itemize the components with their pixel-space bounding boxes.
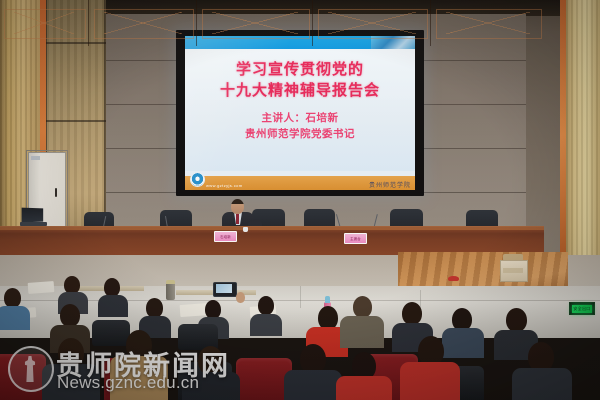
audience-torso: [182, 372, 240, 400]
slide-subtitle-line1: 主讲人：石培新: [185, 111, 415, 125]
door-sign: [31, 156, 40, 160]
audience-torso: [284, 370, 342, 400]
audience-torso: [336, 376, 392, 400]
table-panel-seam: [430, 0, 431, 46]
speaker-head: [231, 199, 244, 214]
table-panel-seam: [88, 0, 89, 46]
audience-seat: [92, 320, 130, 346]
tea-cup: [243, 227, 248, 232]
audience-torso: [400, 362, 460, 400]
thermos-cap: [166, 280, 175, 284]
audience-head: [258, 296, 274, 315]
audience-head: [4, 288, 21, 308]
table-diamond-motif: [212, 12, 298, 34]
raised-hand: [236, 292, 245, 303]
table-panel-seam: [196, 0, 197, 46]
audience-head: [198, 346, 223, 375]
smartphone-screen: [216, 284, 232, 293]
slide-body: 学习宣传贯彻党的 十九大精神辅导报告会 主讲人：石培新 贵州师范学院党委书记: [185, 49, 415, 171]
table-diamond-motif: [328, 12, 416, 34]
audience-head: [146, 298, 163, 318]
audience-torso: [98, 295, 128, 317]
audience-torso: [340, 316, 384, 348]
table-panel-seam: [312, 0, 313, 46]
speaker-nameplate: 石培新: [214, 231, 237, 242]
audience-torso: [0, 306, 30, 330]
slide-footer-calligraphy: 贵州师范学院: [369, 180, 411, 189]
audience-torso: [110, 356, 168, 400]
water-bottle-cap: [325, 296, 330, 303]
audience-torso: [250, 314, 282, 336]
audience-seat: [0, 354, 46, 400]
audience-head: [353, 296, 372, 318]
slide-footer-url: www.gztzyjs.com: [206, 183, 242, 188]
audience-torso: [512, 368, 572, 400]
door-handle-icon[interactable]: [55, 188, 57, 197]
university-logo-icon: [190, 172, 205, 187]
thermos-flask: [166, 282, 175, 300]
projection-screen: 学习宣传贯彻党的 十九大精神辅导报告会 主讲人：石培新 贵州师范学院党委书记 w…: [185, 36, 415, 190]
audience-head: [402, 302, 422, 325]
audience-head: [60, 304, 80, 327]
speaker-tie: [236, 214, 239, 224]
slide-title-line2: 十九大精神辅导报告会: [185, 82, 415, 100]
laptop-screen: [22, 208, 44, 223]
audience-torso: [442, 328, 484, 358]
lecture-hall-photo: 学习宣传贯彻党的 十九大精神辅导报告会 主讲人：石培新 贵州师范学院党委书记 w…: [0, 0, 600, 400]
panel-seam: [46, 120, 106, 122]
slide-footer-band: www.gztzyjs.com 贵州师范学院: [185, 176, 415, 190]
table-diamond-motif: [14, 12, 74, 34]
table-diamond-motif: [446, 12, 530, 34]
table-diamond-motif: [104, 12, 182, 34]
audience-area: [0, 262, 600, 400]
second-nameplate: 主席台: [344, 233, 367, 244]
handout-paper: [28, 281, 55, 294]
audience-head: [506, 308, 527, 332]
slide-subtitle-line2: 贵州师范学院党委书记: [185, 127, 415, 141]
slide-title-line1: 学习宣传贯彻党的: [185, 61, 415, 79]
audience-torso: [42, 364, 100, 400]
panel-seam: [46, 42, 106, 44]
